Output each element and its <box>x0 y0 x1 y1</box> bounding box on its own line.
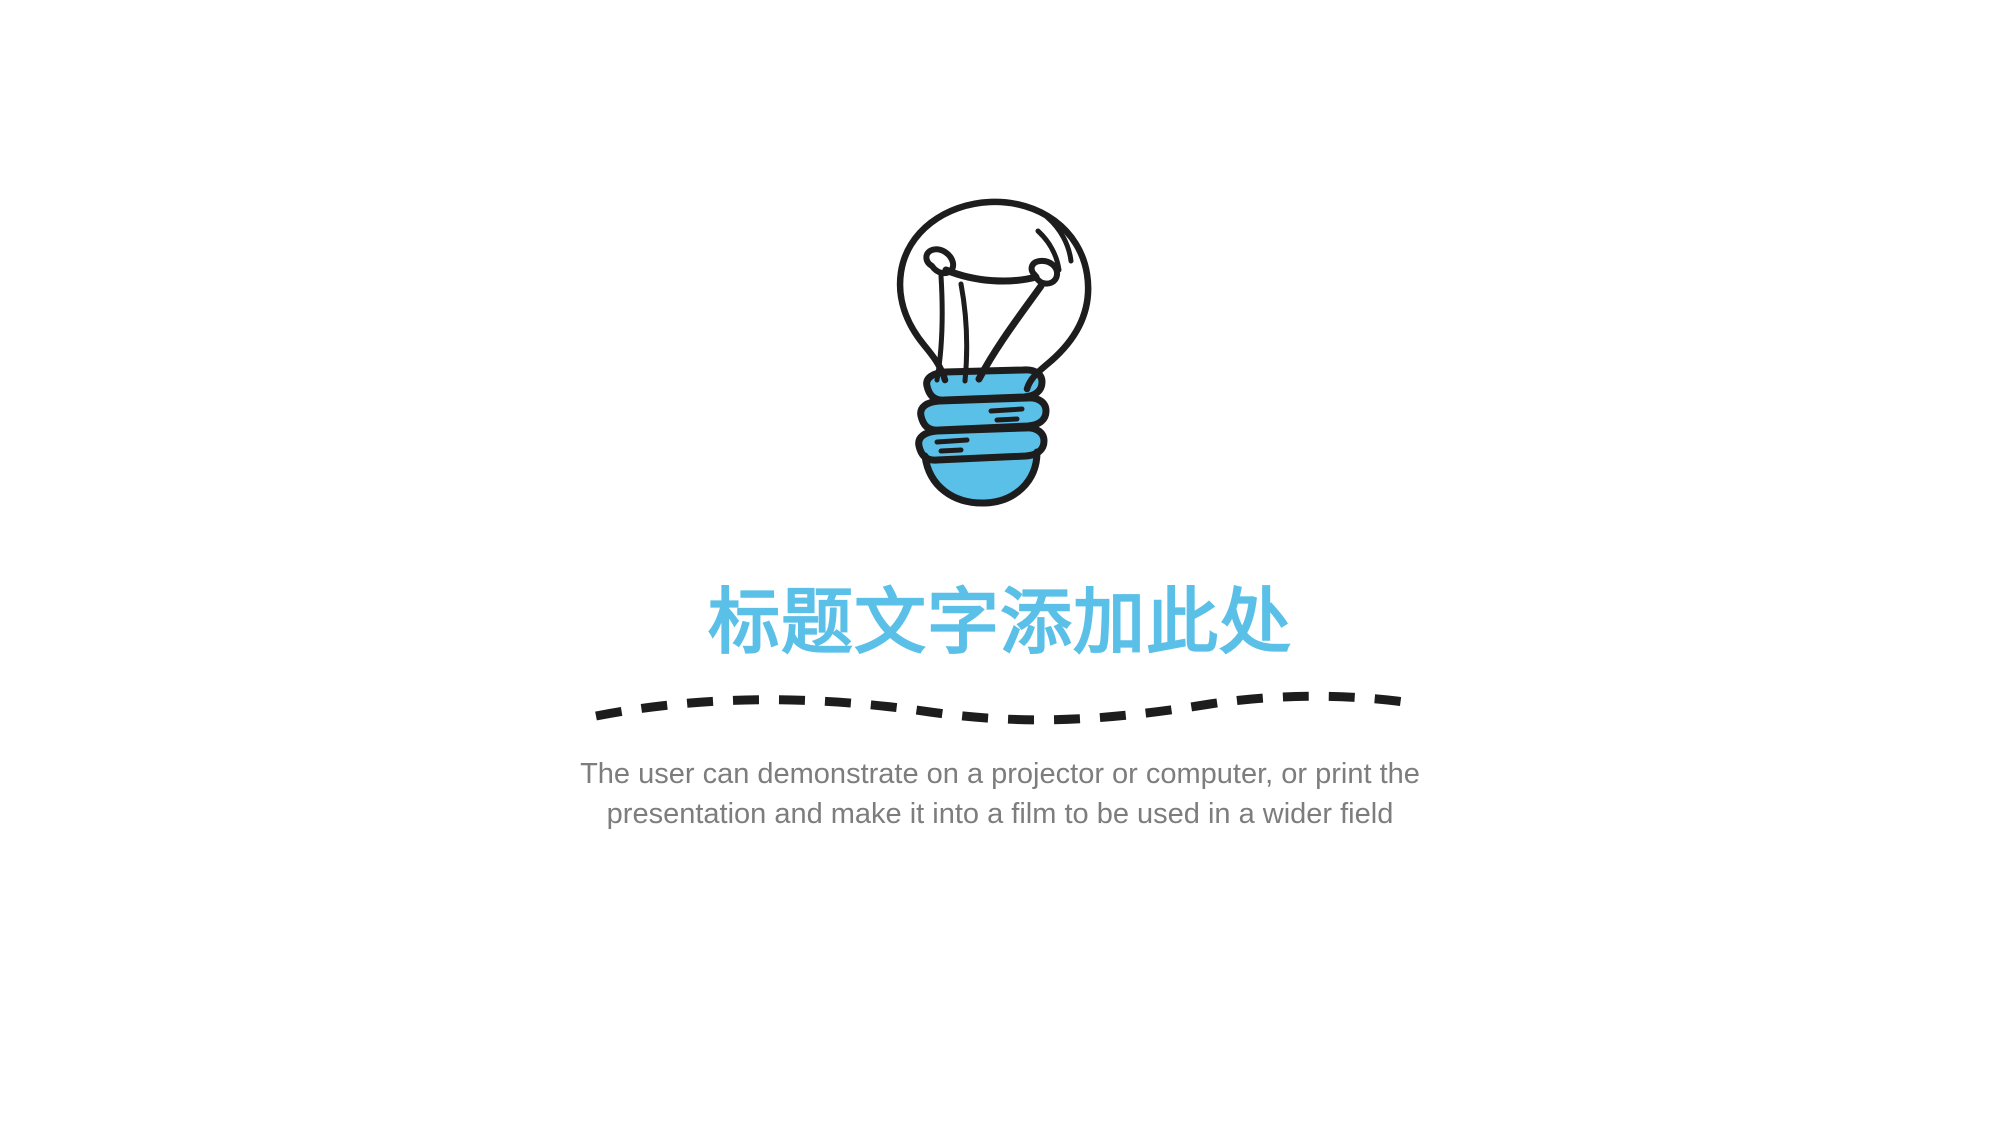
page-title: 标题文字添加此处 <box>708 587 1292 659</box>
lightbulb-illustration <box>0 190 2000 535</box>
wavy-dashed-divider-icon <box>590 690 1410 734</box>
body-line-1: The user can demonstrate on a projector … <box>495 754 1505 794</box>
body-paragraph: The user can demonstrate on a projector … <box>495 754 1505 834</box>
lightbulb-doodle-icon <box>875 190 1125 535</box>
bulb-filament-icon <box>926 249 1057 381</box>
divider-block <box>0 690 2000 734</box>
title-block: 标题文字添加此处 <box>0 587 2000 659</box>
slide-canvas: 标题文字添加此处 The user can demonstrate on a p… <box>0 0 2000 1125</box>
body-line-2: presentation and make it into a film to … <box>495 794 1505 834</box>
